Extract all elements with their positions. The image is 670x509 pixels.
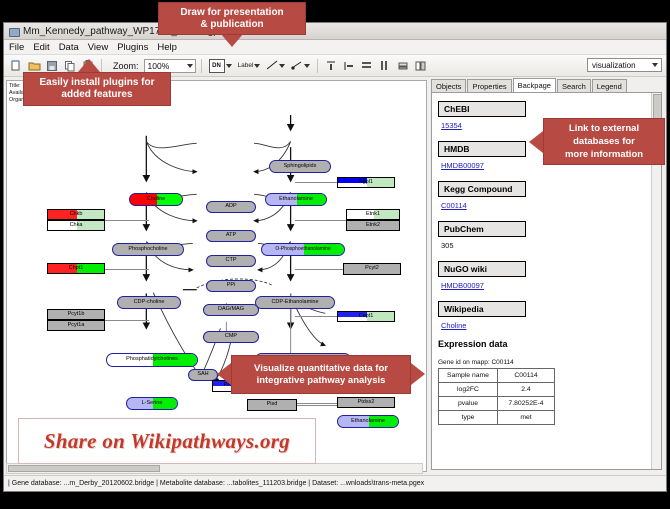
node-choline-top[interactable]: Choline bbox=[129, 193, 183, 206]
node-ppi[interactable]: PPi bbox=[206, 280, 256, 292]
line-icon bbox=[266, 57, 278, 75]
node-label: Phosphocholine bbox=[128, 247, 167, 253]
expr-key-sample-name: Sample name bbox=[439, 369, 498, 383]
node-pisd[interactable]: Pisd bbox=[247, 399, 297, 411]
node-label: CDP-choline bbox=[134, 300, 165, 306]
app-icon bbox=[8, 26, 19, 37]
callout-links-line3: more information bbox=[565, 148, 643, 161]
connector-pcyt1 bbox=[105, 320, 149, 321]
callout-visualize-arrow-right bbox=[411, 363, 425, 385]
expr-key-type: type bbox=[439, 411, 498, 425]
connector-chpt1 bbox=[105, 269, 149, 270]
align-top-icon[interactable] bbox=[323, 58, 339, 74]
arrow-icon bbox=[291, 57, 303, 75]
node-label: Pisd bbox=[267, 402, 278, 408]
datanode-icon: DN bbox=[209, 59, 225, 73]
node-o-phosphoethanolamine[interactable]: O-Phosphoethanolamine bbox=[261, 243, 345, 256]
node-atp[interactable]: ATP bbox=[206, 230, 256, 242]
canvas-label-title: Title: bbox=[9, 83, 24, 90]
node-label: DAG/MAG bbox=[218, 307, 244, 313]
gene-id-on-mapp: Gene id on mapp: C00114 bbox=[438, 359, 649, 366]
node-etnk2[interactable]: Etnk2 bbox=[346, 220, 400, 231]
node-chpt1[interactable]: Chpt1 bbox=[47, 263, 105, 274]
callout-draw-line2: & publication bbox=[200, 19, 263, 31]
node-label: Ethanolamine bbox=[279, 197, 313, 203]
chevron-down-icon bbox=[279, 64, 285, 68]
node-label: ATP bbox=[226, 233, 236, 239]
node-label: Chpt1 bbox=[69, 266, 84, 272]
new-file-icon[interactable] bbox=[8, 58, 24, 74]
db-header-wikipedia: Wikipedia bbox=[438, 301, 526, 317]
node-pcyt1b[interactable]: Pcyt1b bbox=[47, 309, 105, 320]
stack-icon[interactable] bbox=[395, 58, 411, 74]
visualization-combobox[interactable]: visualization bbox=[587, 58, 662, 72]
connector-etnk bbox=[295, 220, 347, 221]
node-etnk1[interactable]: Etnk1 bbox=[346, 209, 400, 220]
node-l-serine-left[interactable]: L-Serine bbox=[126, 397, 178, 410]
label-tool-text: Label bbox=[238, 62, 254, 69]
node-label: Ptdss2 bbox=[358, 400, 375, 406]
node-label: SAH bbox=[197, 372, 208, 378]
callout-plugins-arrow bbox=[78, 59, 100, 72]
node-phosphocholine[interactable]: Phosphocholine bbox=[112, 243, 184, 256]
chevron-down-icon bbox=[304, 64, 310, 68]
label-dropdown[interactable]: Label bbox=[238, 62, 261, 69]
expr-val-sample-name: C00114 bbox=[498, 369, 555, 383]
toolbar-separator bbox=[101, 59, 102, 73]
callout-links: Link to external databases for more info… bbox=[543, 118, 665, 165]
node-label: ADP bbox=[225, 204, 236, 210]
node-cdp-choline[interactable]: CDP-choline bbox=[117, 296, 181, 309]
tab-backpage[interactable]: Backpage bbox=[513, 78, 556, 92]
node-label: Etnk1 bbox=[366, 212, 380, 218]
node-label: Sgpl1 bbox=[359, 180, 373, 186]
node-label: PPi bbox=[227, 283, 236, 289]
connector-chk bbox=[105, 220, 149, 221]
db-link-nugo-wiki[interactable]: HMDB00097 bbox=[441, 281, 649, 290]
node-ptdss2[interactable]: Ptdss2 bbox=[337, 397, 395, 408]
node-label: L-Serine bbox=[142, 401, 163, 407]
node-dag-mag[interactable]: DAG/MAG bbox=[203, 304, 259, 316]
canvas-label-availability: Availa bbox=[9, 90, 24, 97]
node-sphingolipids[interactable]: Sphingolipids bbox=[269, 160, 331, 173]
status-text: | Gene database: ...m_Derby_20120602.bri… bbox=[8, 480, 424, 487]
distribute-horizontal-icon[interactable] bbox=[377, 58, 393, 74]
expression-table: Sample name C00114 log2FC 2.4 pvalue 7.8… bbox=[438, 368, 555, 425]
db-header-kegg-compound: Kegg Compound bbox=[438, 181, 526, 197]
menu-item-help[interactable]: Help bbox=[157, 42, 177, 53]
table-row: type met bbox=[439, 411, 555, 425]
node-chkb[interactable]: Chkb bbox=[47, 209, 105, 220]
visualization-bar: visualization bbox=[587, 58, 662, 72]
node-label: Chkb bbox=[70, 212, 83, 218]
toolbar-separator bbox=[317, 59, 318, 73]
distribute-vertical-icon[interactable] bbox=[359, 58, 375, 74]
node-label: Phosphatidylcholines bbox=[126, 357, 178, 363]
zoom-combobox[interactable]: 100% bbox=[144, 59, 196, 73]
node-ethanolamine-top[interactable]: Ethanolamine bbox=[265, 193, 327, 206]
callout-visualize-line2: integrative pathway analysis bbox=[257, 375, 386, 387]
expr-val-pvalue: 7.80252E-4 bbox=[498, 397, 555, 411]
db-header-hmdb: HMDB bbox=[438, 141, 526, 157]
node-label: Ethanolamine bbox=[351, 419, 385, 425]
arrow-dropdown[interactable] bbox=[291, 57, 310, 75]
node-cdp-ethanolamine[interactable]: CDP-Ethanolamine bbox=[255, 296, 335, 309]
callout-visualize-arrow bbox=[217, 363, 231, 385]
expression-data-heading: Expression data bbox=[438, 339, 649, 349]
callout-draw: Draw for presentation & publication bbox=[158, 2, 306, 35]
db-header-pubchem: PubChem bbox=[438, 221, 526, 237]
db-value-pubchem: 305 bbox=[441, 241, 649, 250]
connector-cept1 bbox=[295, 316, 338, 317]
table-row: pvalue 7.80252E-4 bbox=[439, 397, 555, 411]
tab-objects[interactable]: Objects bbox=[431, 79, 466, 92]
title-bar: Mm_Kennedy_pathway_WP1771_45176.gpml bbox=[4, 23, 666, 40]
callout-links-arrow bbox=[529, 131, 543, 153]
connector-ptdss2 bbox=[296, 403, 338, 404]
line-dropdown[interactable] bbox=[266, 57, 285, 75]
callout-draw-arrow bbox=[221, 34, 243, 47]
node-adp[interactable]: ADP bbox=[206, 201, 256, 213]
callout-links-line1: Link to external bbox=[569, 122, 639, 135]
node-label: Choline bbox=[147, 197, 166, 203]
expr-key-log2fc: log2FC bbox=[439, 383, 498, 397]
node-pcyt1a[interactable]: Pcyt1a bbox=[47, 320, 105, 331]
chevron-down-icon bbox=[226, 64, 232, 68]
callout-plugins: Easily install plugins for added feature… bbox=[23, 72, 171, 106]
callout-share: Share on Wikipathways.org bbox=[18, 418, 316, 464]
node-cmp[interactable]: CMP bbox=[203, 331, 259, 343]
node-cept1[interactable]: Cept1 bbox=[337, 311, 395, 322]
node-label: Cept1 bbox=[359, 314, 374, 320]
canvas-side-labels: Title: Availa Organ bbox=[9, 83, 24, 104]
node-ctp[interactable]: CTP bbox=[206, 255, 256, 267]
expr-val-type: met bbox=[498, 411, 555, 425]
pathway-edges bbox=[7, 81, 426, 471]
status-bar: | Gene database: ...m_Derby_20120602.bri… bbox=[4, 475, 666, 491]
node-phosphatidylcholines[interactable]: Phosphatidylcholines bbox=[106, 353, 198, 367]
node-label: Chka bbox=[70, 223, 83, 229]
expr-val-log2fc: 2.4 bbox=[498, 383, 555, 397]
node-sgpl1[interactable]: Sgpl1 bbox=[337, 177, 395, 188]
node-label: Sphingolipids bbox=[284, 164, 317, 170]
bring-front-icon[interactable] bbox=[413, 58, 429, 74]
toolbar-separator bbox=[201, 59, 202, 73]
canvas-label-organism: Organ bbox=[9, 97, 24, 104]
menu-item-file[interactable]: File bbox=[9, 42, 24, 53]
node-label: Etnk2 bbox=[366, 223, 380, 229]
canvas-horizontal-scrollbar[interactable] bbox=[6, 463, 423, 474]
visualization-value: visualization bbox=[592, 61, 636, 70]
zoom-label: Zoom: bbox=[113, 61, 139, 71]
chevron-down-icon bbox=[652, 63, 658, 67]
node-label: CDP-Ethanolamine bbox=[271, 300, 318, 306]
node-label: O-Phosphoethanolamine bbox=[275, 247, 330, 252]
connector-pcyt2 bbox=[295, 269, 344, 270]
chevron-down-icon bbox=[187, 64, 193, 68]
callout-plugins-line2: added features bbox=[61, 89, 132, 101]
callout-plugins-line1: Easily install plugins for bbox=[39, 77, 154, 89]
expr-key-pvalue: pvalue bbox=[439, 397, 498, 411]
pathway-canvas[interactable]: Title: Availa Organ bbox=[6, 80, 427, 472]
connector-pisd bbox=[296, 405, 338, 406]
node-label: CMP bbox=[225, 334, 237, 340]
chevron-down-icon bbox=[254, 64, 260, 68]
db-link-kegg-compound[interactable]: C00114 bbox=[441, 201, 649, 210]
node-chka[interactable]: Chka bbox=[47, 220, 105, 231]
callout-links-line2: databases for bbox=[573, 135, 635, 148]
menu-bar: File Edit Data View Plugins Help bbox=[4, 40, 666, 55]
datanode-dropdown[interactable]: DN bbox=[209, 59, 232, 73]
table-row: Sample name C00114 bbox=[439, 369, 555, 383]
scrollbar-thumb[interactable] bbox=[8, 465, 160, 472]
connector-sgpl1 bbox=[295, 182, 338, 183]
node-pcyt2[interactable]: Pcyt2 bbox=[343, 263, 401, 275]
callout-visualize-line1: Visualize quantitative data for bbox=[254, 363, 388, 375]
panel-tab-row: Objects Properties Backpage Search Legen… bbox=[427, 78, 666, 92]
db-header-nugo-wiki: NuGO wiki bbox=[438, 261, 526, 277]
node-label: Pcyt1a bbox=[68, 323, 85, 329]
tab-legend[interactable]: Legend bbox=[592, 79, 627, 92]
callout-draw-line1: Draw for presentation bbox=[180, 7, 283, 19]
align-left-icon[interactable] bbox=[341, 58, 357, 74]
node-label: Pcyt1b bbox=[68, 312, 85, 318]
screenshot-root: Mm_Kennedy_pathway_WP1771_45176.gpml Fil… bbox=[0, 0, 670, 509]
menu-item-plugins[interactable]: Plugins bbox=[117, 42, 148, 53]
callout-share-text: Share on Wikipathways.org bbox=[44, 429, 290, 454]
menu-item-edit[interactable]: Edit bbox=[33, 42, 49, 53]
tab-search[interactable]: Search bbox=[557, 79, 591, 92]
table-row: log2FC 2.4 bbox=[439, 383, 555, 397]
menu-item-data[interactable]: Data bbox=[59, 42, 79, 53]
node-label: Pcyt2 bbox=[365, 266, 379, 272]
node-ethanolamine-right[interactable]: Ethanolamine bbox=[337, 415, 399, 428]
db-header-chebi: ChEBI bbox=[438, 101, 526, 117]
db-link-wikipedia[interactable]: Choline bbox=[441, 321, 649, 330]
tab-properties[interactable]: Properties bbox=[467, 79, 511, 92]
menu-item-view[interactable]: View bbox=[88, 42, 108, 53]
node-label: CTP bbox=[226, 258, 237, 264]
zoom-value: 100% bbox=[148, 61, 170, 71]
callout-visualize: Visualize quantitative data for integrat… bbox=[231, 355, 411, 394]
